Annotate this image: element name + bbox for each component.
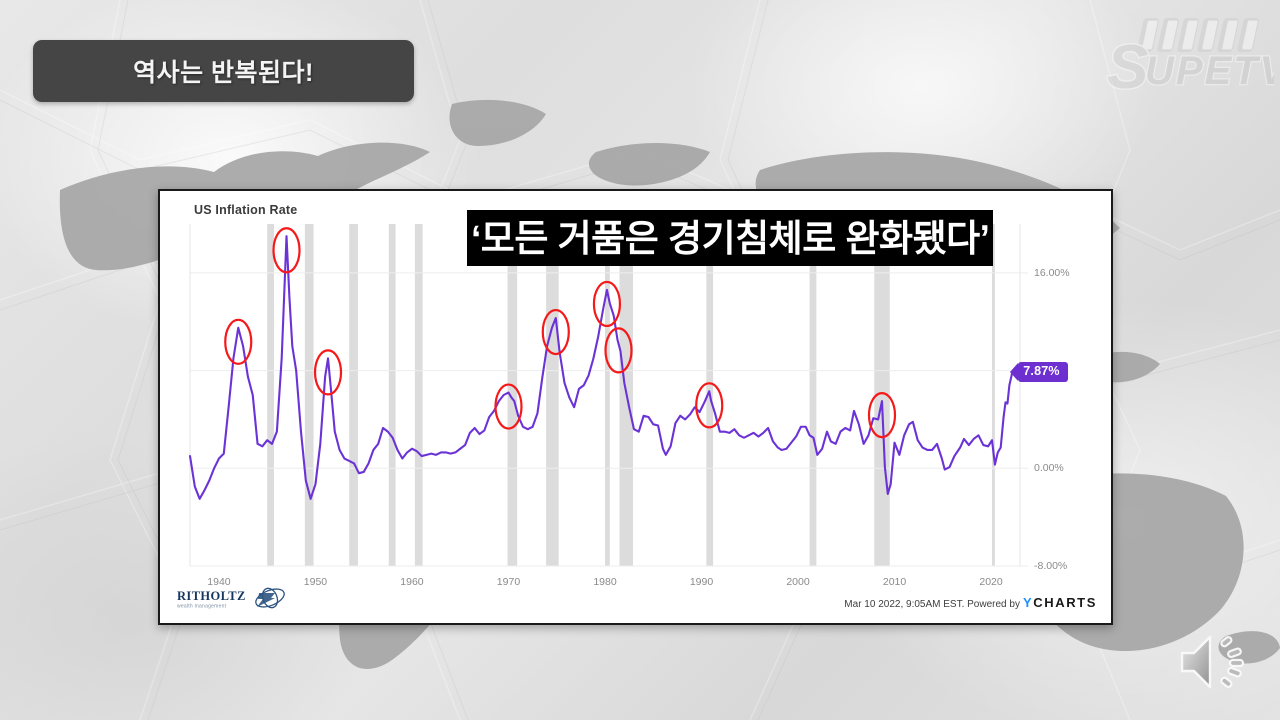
chart-title: US Inflation Rate (194, 203, 297, 217)
supetv-logo-text: S (1107, 33, 1148, 102)
korean-headline-overlay: ‘모든 거품은 경기침체로 완화됐다’ (467, 210, 993, 266)
x-axis-tick-label: 1960 (400, 576, 423, 588)
ycharts-attribution: Mar 10 2022, 9:05AM EST. Powered by YCHA… (844, 595, 1097, 610)
y-axis-tick-label: 16.00% (1034, 267, 1070, 279)
peak-annotation-circle (225, 320, 251, 364)
korean-headline-text: ‘모든 거품은 경기침체로 완화됐다’ (471, 220, 989, 257)
latest-value-label: 7.87% (1018, 362, 1067, 382)
x-axis-tick-label: 1970 (497, 576, 520, 588)
banner-label: 역사는 반복된다! (133, 53, 314, 89)
peak-annotation-circle (315, 350, 341, 394)
ycharts-brand: YCHARTS (1023, 595, 1097, 610)
recession-band (992, 224, 995, 566)
ritholtz-logo: RITHOLTZ wealth management (176, 587, 294, 613)
speaker-volume-icon[interactable] (1176, 626, 1252, 698)
y-axis-tick-label: 0.00% (1034, 462, 1064, 474)
x-axis-tick-label: 2020 (979, 576, 1002, 588)
supetv-logo: S UPETV (1089, 4, 1274, 109)
x-axis-tick-label: 1950 (304, 576, 327, 588)
ycharts-brand-y: Y (1023, 595, 1033, 610)
y-axis-tick-label: -8.00% (1034, 560, 1067, 572)
recession-band (349, 224, 358, 566)
recession-band (389, 224, 396, 566)
x-axis-tick-label: 2010 (883, 576, 906, 588)
x-axis-tick-label: 1980 (593, 576, 616, 588)
ritholtz-logo-primary: RITHOLTZ (177, 589, 246, 603)
ycharts-brand-rest: CHARTS (1033, 595, 1097, 610)
chart-card: US Inflation Rate ‘모든 거품은 경기침체로 완화됐다’ 7.… (158, 189, 1113, 625)
headline-banner: 역사는 반복된다! (33, 40, 414, 102)
recession-band (605, 224, 610, 566)
x-axis-tick-label: 2000 (786, 576, 809, 588)
recession-band (267, 224, 274, 566)
latest-value-badge: 7.87% (1010, 362, 1067, 382)
plot-area (172, 220, 1102, 572)
recession-band (415, 224, 423, 566)
x-axis-tick-label: 1990 (690, 576, 713, 588)
badge-pointer-icon (1010, 363, 1018, 381)
svg-text:UPETV: UPETV (1145, 49, 1274, 93)
recession-band (546, 224, 559, 566)
ritholtz-logo-secondary: wealth management (177, 604, 227, 610)
recession-band (305, 224, 314, 566)
ycharts-timestamp: Mar 10 2022, 9:05AM EST. Powered by (844, 599, 1020, 610)
recession-band (810, 224, 817, 566)
inflation-line-chart (172, 220, 1102, 572)
